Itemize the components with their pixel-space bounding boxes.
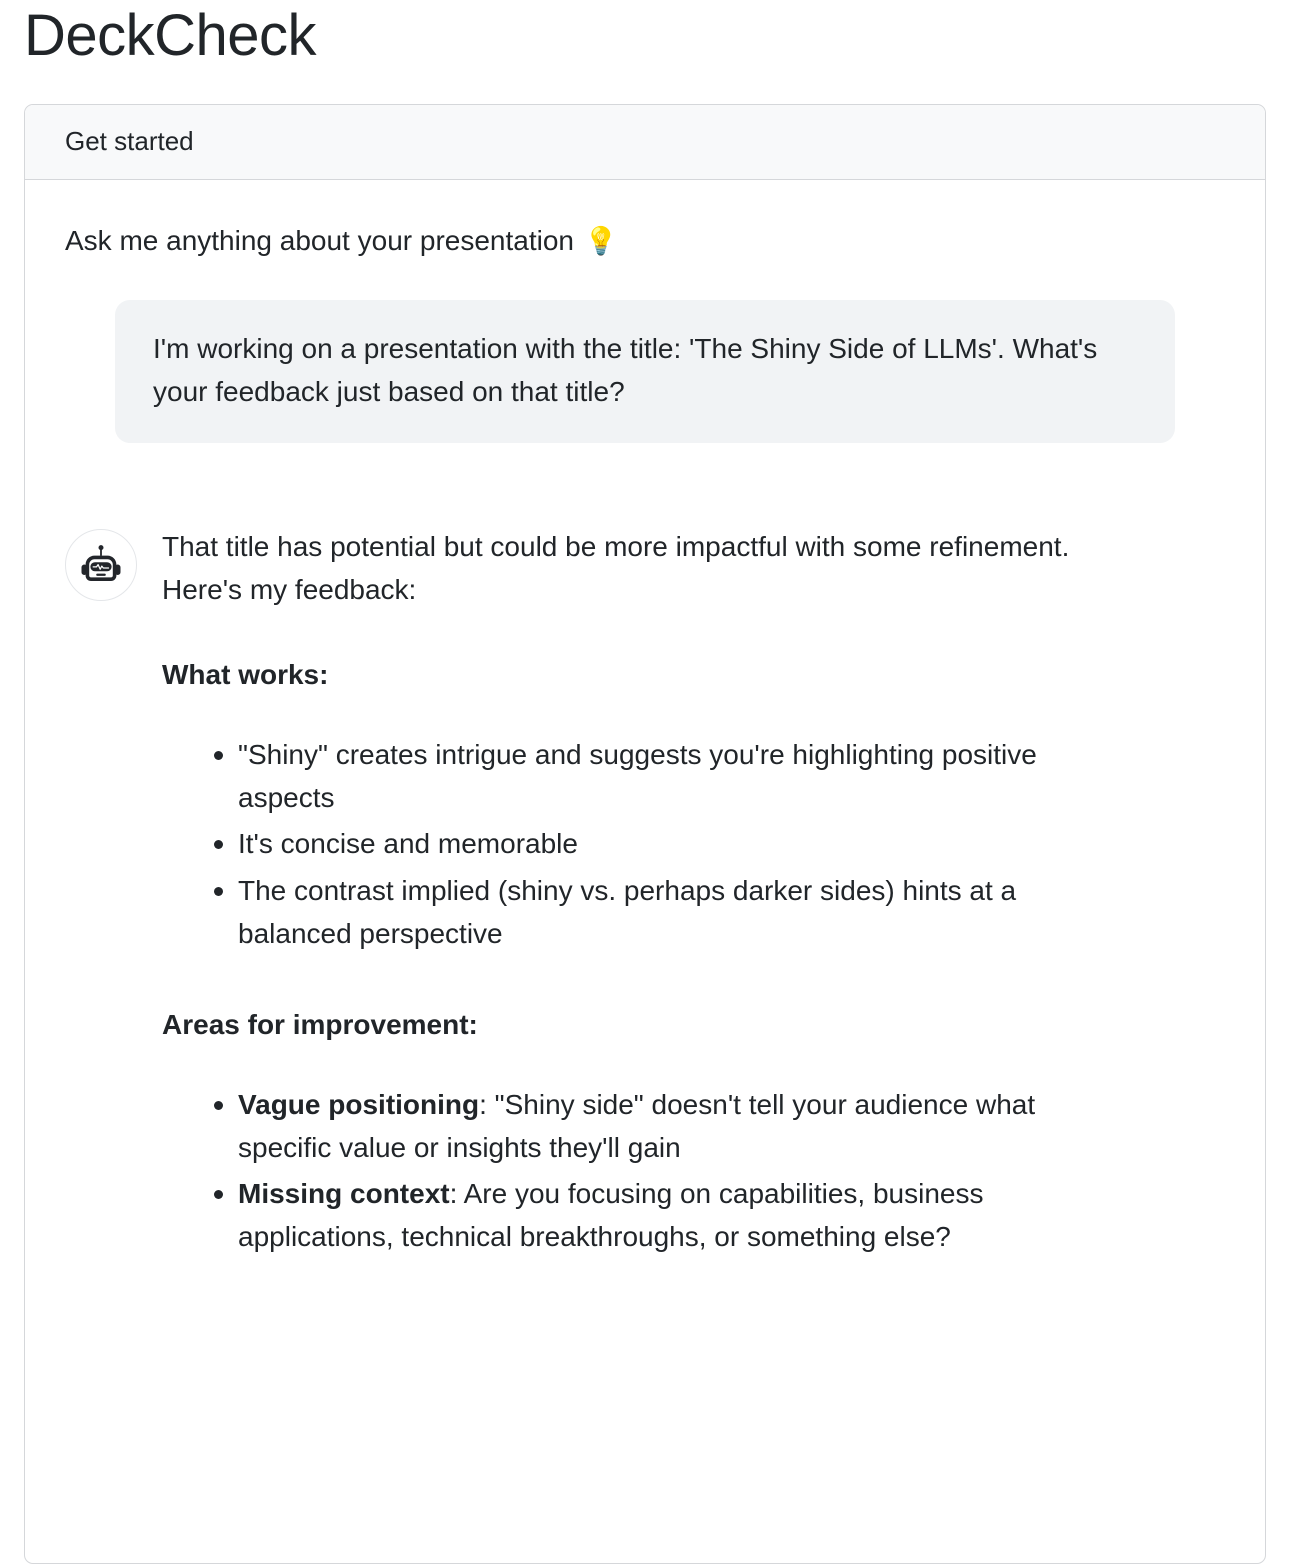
card-header-title: Get started [65, 126, 194, 156]
prompt-heading-label: Ask me anything about your presentation [65, 222, 574, 260]
list-item-text: "Shiny" creates intrigue and suggests yo… [238, 739, 1037, 813]
section-heading-areas-for-improvement: Areas for improvement: [162, 1005, 1112, 1044]
list-item: It's concise and memorable [162, 823, 1112, 866]
prompt-heading: Ask me anything about your presentation … [65, 222, 1225, 260]
user-message-bubble: I'm working on a presentation with the t… [115, 300, 1175, 443]
list-item: Vague positioning: "Shiny side" doesn't … [162, 1084, 1112, 1169]
list-item-text: The contrast implied (shiny vs. perhaps … [238, 875, 1016, 949]
get-started-card: Get started Ask me anything about your p… [24, 104, 1266, 1564]
list-item-text: It's concise and memorable [238, 828, 578, 859]
list-item-lead: Missing context [238, 1178, 450, 1209]
list-item: "Shiny" creates intrigue and suggests yo… [162, 734, 1112, 819]
bullet-list-what-works: "Shiny" creates intrigue and suggests yo… [162, 734, 1112, 955]
user-message-row: I'm working on a presentation with the t… [65, 300, 1225, 443]
light-bulb-emoji: 💡 [584, 228, 618, 255]
avatar [65, 529, 137, 601]
page-title: DeckCheck [0, 0, 1290, 67]
assistant-section-areas-for-improvement: Areas for improvement: Vague positioning… [162, 1005, 1112, 1258]
assistant-message-row: That title has potential but could be mo… [65, 526, 1225, 1262]
card-header: Get started [25, 105, 1265, 180]
robot-avatar-icon [79, 543, 123, 587]
list-item-lead: Vague positioning [238, 1089, 479, 1120]
section-heading-what-works: What works: [162, 655, 1112, 694]
list-item: The contrast implied (shiny vs. perhaps … [162, 870, 1112, 955]
card-body: Ask me anything about your presentation … [25, 180, 1265, 1272]
chat-thread: I'm working on a presentation with the t… [65, 300, 1225, 1262]
assistant-intro-paragraph: That title has potential but could be mo… [162, 526, 1112, 611]
list-item: Missing context: Are you focusing on cap… [162, 1173, 1112, 1258]
assistant-section-what-works: What works: "Shiny" creates intrigue and… [162, 655, 1112, 955]
bullet-list-areas-for-improvement: Vague positioning: "Shiny side" doesn't … [162, 1084, 1112, 1258]
assistant-message-content: That title has potential but could be mo… [162, 526, 1112, 1262]
